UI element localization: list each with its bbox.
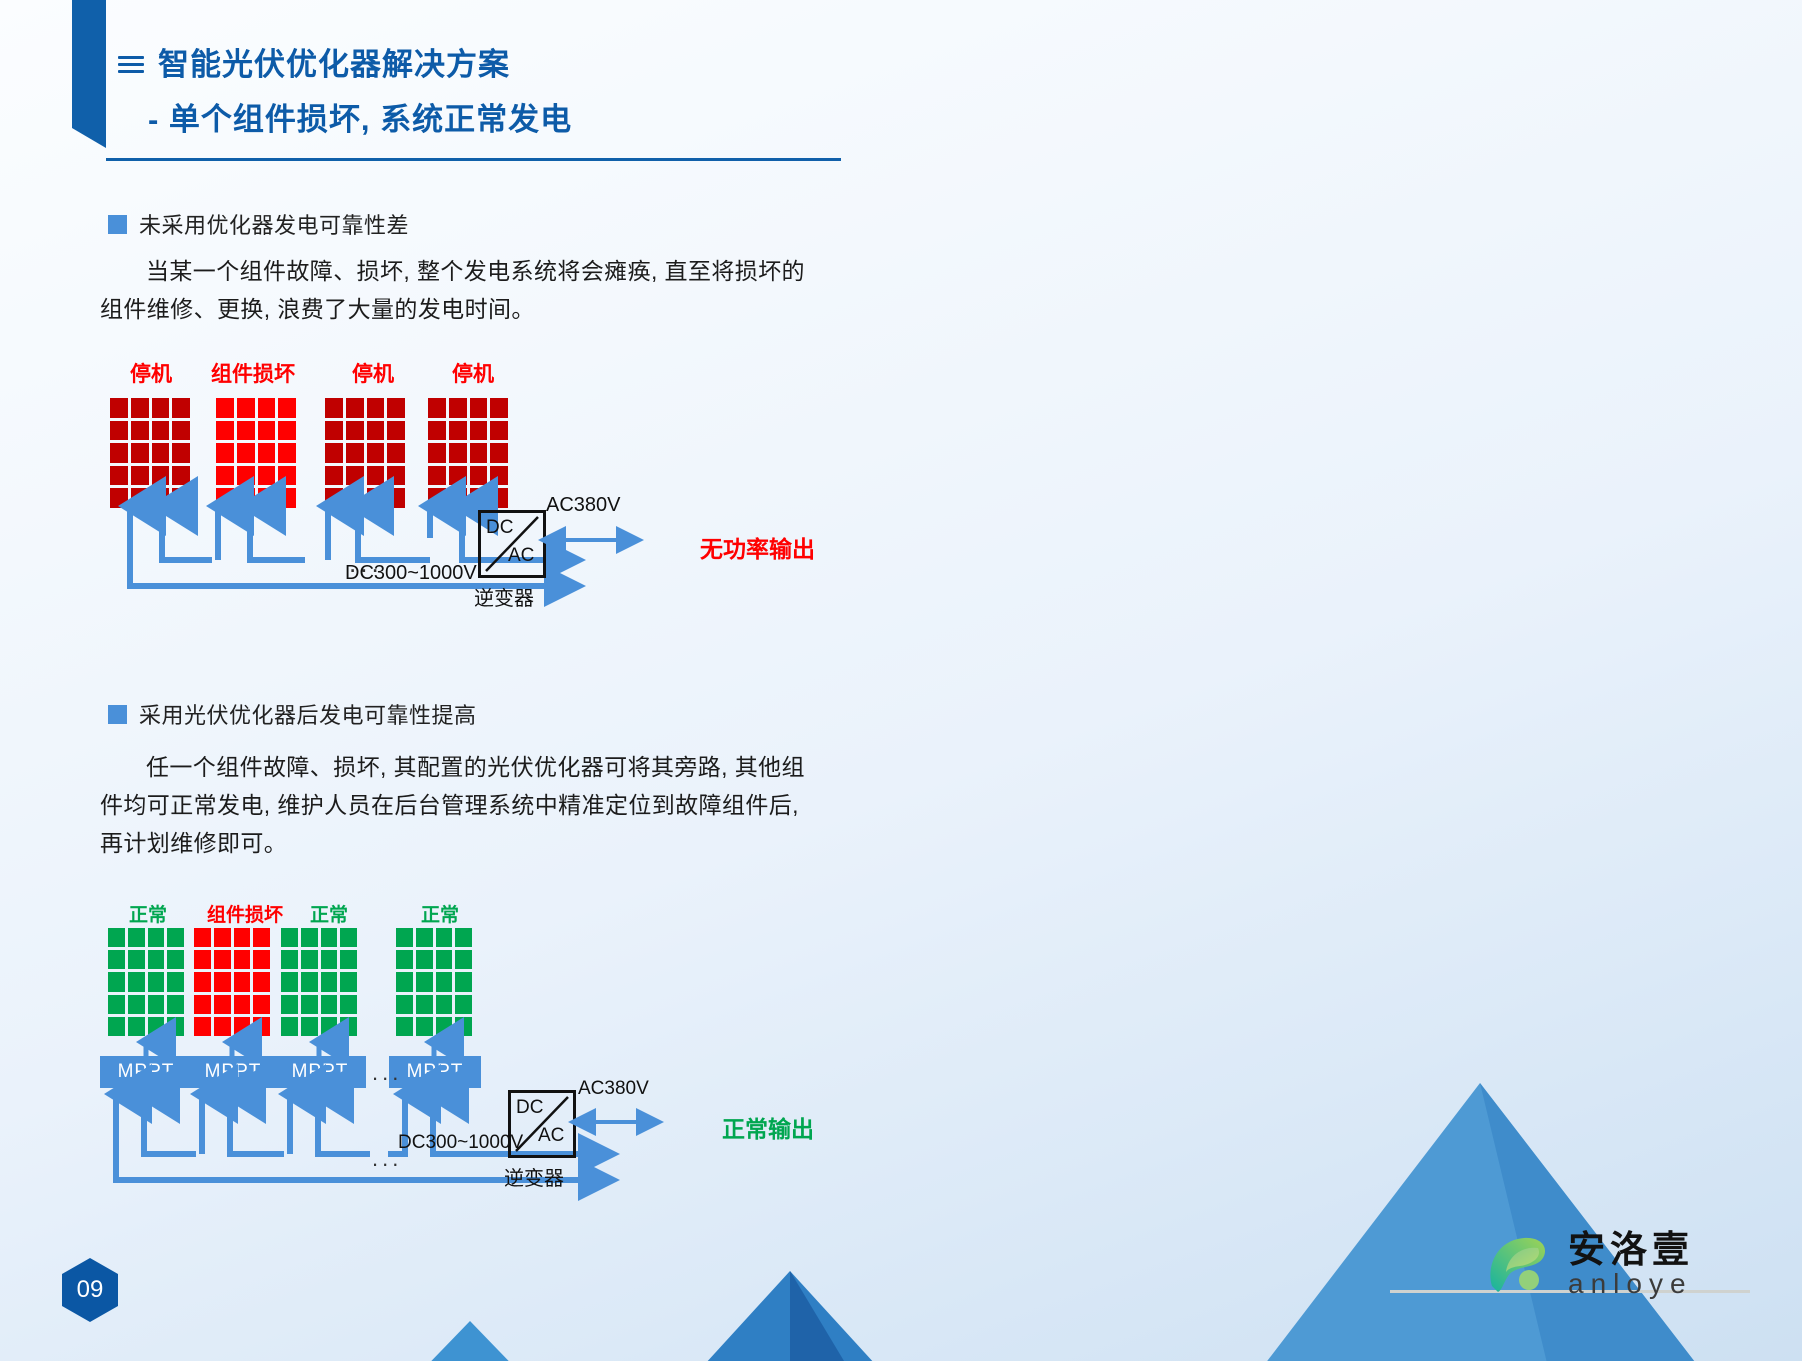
panel-cell: [258, 398, 276, 418]
panel-cell: [278, 398, 296, 418]
panel-cell: [278, 466, 296, 486]
mppt-box: MPPT: [389, 1056, 481, 1088]
panel-cell: [128, 1017, 145, 1036]
panel-cell: [490, 421, 508, 441]
panel-cell: [234, 928, 251, 947]
panel-cell: [449, 421, 467, 441]
panel-cell: [148, 928, 165, 947]
panel-cell: [416, 928, 433, 947]
section1-output-label: 无功率输出: [700, 530, 815, 564]
inverter-dc-label: DC: [486, 517, 513, 539]
panel-cell: [470, 466, 488, 486]
panel-cell: [167, 950, 184, 969]
panel-cell: [194, 928, 211, 947]
panel-cell: [131, 466, 149, 486]
panel-cell: [396, 972, 413, 991]
mppt-box: MPPT: [100, 1056, 192, 1088]
panel-cell: [436, 928, 453, 947]
panel-cell: [470, 421, 488, 441]
panel-cell: [428, 421, 446, 441]
panel-cell: [214, 995, 231, 1014]
panel-cell: [346, 443, 364, 463]
panel-cell: [216, 466, 234, 486]
panel-cell: [325, 421, 343, 441]
panel-cell: [340, 1017, 357, 1036]
panel-cell: [172, 421, 190, 441]
panel-cell: [214, 1017, 231, 1036]
panel-cell: [216, 398, 234, 418]
panel-cell: [387, 398, 405, 418]
panel-cell: [490, 398, 508, 418]
panel-cell: [234, 1017, 251, 1036]
section1-heading: 未采用优化器发电可靠性差: [108, 208, 409, 240]
panel-cell: [281, 950, 298, 969]
header-divider: [106, 158, 841, 161]
panel-cell: [194, 950, 211, 969]
solar-panel: [110, 398, 190, 508]
panel-cell: [152, 421, 170, 441]
panel-cell: [131, 443, 149, 463]
panel-cell: [367, 466, 385, 486]
panel-cell: [396, 995, 413, 1014]
panel-cell: [416, 972, 433, 991]
panel-cell: [216, 421, 234, 441]
solar-panel: [281, 928, 357, 1036]
panel-cell: [216, 443, 234, 463]
inverter-caption: 逆变器: [474, 582, 534, 611]
panel-cell: [449, 443, 467, 463]
section2-heading: 采用光伏优化器后发电可靠性提高: [108, 698, 477, 730]
inverter-dc-label: DC: [516, 1097, 543, 1119]
panel-cell: [470, 398, 488, 418]
solar-panel: [428, 398, 508, 508]
panel-cell: [172, 398, 190, 418]
panel-cell: [214, 972, 231, 991]
page-header: 智能光伏优化器解决方案 - 单个组件损坏, 系统正常发电: [118, 48, 1018, 139]
header-accent-bar: [72, 0, 106, 148]
panel-cell: [258, 466, 276, 486]
solar-panel: [396, 928, 472, 1036]
panel-cell: [301, 928, 318, 947]
page-subtitle: - 单个组件损坏, 系统正常发电: [118, 94, 1018, 139]
panel-cell: [340, 972, 357, 991]
panel-cell: [128, 928, 145, 947]
panel-label-4: 停机: [420, 358, 526, 388]
section2-ac-arrow: [570, 1110, 690, 1134]
panel-cell: [301, 950, 318, 969]
section2-heading-label: 采用光伏优化器后发电可靠性提高: [139, 698, 477, 730]
panel-cell: [108, 995, 125, 1014]
panel-cell: [258, 421, 276, 441]
section1-ac-label: AC380V: [546, 494, 621, 517]
panel-cell: [428, 398, 446, 418]
panel-label-3: 停机: [320, 358, 426, 388]
panel-cell: [325, 466, 343, 486]
panel-cell: [131, 398, 149, 418]
panel-cell: [281, 1017, 298, 1036]
panel-cell: [301, 995, 318, 1014]
logo-chinese-name: 安洛壹: [1568, 1231, 1694, 1268]
inverter-ac-label: AC: [538, 1125, 564, 1147]
panel-cell: [253, 928, 270, 947]
panel-cell: [321, 972, 338, 991]
panel-cell: [346, 421, 364, 441]
panel-cell: [449, 398, 467, 418]
panel-label-1: 停机: [98, 358, 204, 388]
panel-cell: [237, 466, 255, 486]
panel-cell: [108, 972, 125, 991]
panel-cell: [253, 972, 270, 991]
panel-cell: [131, 421, 149, 441]
panel-cell: [152, 398, 170, 418]
panel-cell: [167, 972, 184, 991]
panel-cell: [214, 928, 231, 947]
section1-heading-label: 未采用优化器发电可靠性差: [139, 208, 409, 240]
panel-cell: [237, 443, 255, 463]
panel-cell: [325, 398, 343, 418]
panel-cell: [148, 950, 165, 969]
panel-cell: [194, 995, 211, 1014]
panel-cell: [387, 466, 405, 486]
page-title: 智能光伏优化器解决方案: [158, 48, 510, 82]
panel-cell: [321, 950, 338, 969]
section2-paragraph: 任一个组件故障、损坏, 其配置的光伏优化器可将其旁路, 其他组件均可正常发电, …: [100, 748, 820, 862]
panel-label-4: 正常: [394, 900, 486, 927]
panel-cell: [387, 443, 405, 463]
panel-label-3: 正常: [283, 900, 375, 927]
panel-cell: [108, 1017, 125, 1036]
panel-cell: [128, 950, 145, 969]
leaf-logo-icon: [1482, 1228, 1554, 1300]
section2-output-label: 正常输出: [722, 1110, 814, 1144]
panel-cell: [321, 995, 338, 1014]
panel-cell: [281, 972, 298, 991]
solar-panel: [108, 928, 184, 1036]
panel-cell: [167, 995, 184, 1014]
panel-cell: [436, 995, 453, 1014]
panel-cell: [128, 972, 145, 991]
panel-cell: [325, 443, 343, 463]
panel-cell: [281, 928, 298, 947]
section1-paragraph: 当某一个组件故障、损坏, 整个发电系统将会瘫痪, 直至将损坏的组件维修、更换, …: [100, 252, 820, 328]
panel-cell: [301, 1017, 318, 1036]
section2-dc-label: DC300~1000V: [398, 1132, 523, 1154]
panel-label-1: 正常: [102, 900, 194, 927]
panel-cell: [367, 421, 385, 441]
panel-cell: [367, 443, 385, 463]
logo-english-name: anloye: [1568, 1270, 1694, 1298]
panel-cell: [455, 972, 472, 991]
panel-cell: [237, 398, 255, 418]
panel-cell: [470, 443, 488, 463]
panel-cell: [110, 443, 128, 463]
section2-ac-label: AC380V: [578, 1078, 649, 1100]
panel-cell: [258, 443, 276, 463]
panel-cell: [152, 466, 170, 486]
panel-cell: [281, 995, 298, 1014]
panel-cell: [387, 421, 405, 441]
inverter-caption: 逆变器: [504, 1162, 564, 1191]
panel-cell: [346, 466, 364, 486]
panel-cell: [340, 928, 357, 947]
panel-cell: [152, 443, 170, 463]
bullet-square-icon: [108, 705, 127, 724]
panel-cell: [416, 995, 433, 1014]
hamburger-icon: [118, 54, 144, 76]
panel-cell: [194, 972, 211, 991]
solar-panel: [325, 398, 405, 508]
panel-cell: [436, 950, 453, 969]
inverter-ac-label: AC: [508, 545, 534, 567]
panel-cell: [455, 950, 472, 969]
panel-cell: [110, 398, 128, 418]
panel-cell: [490, 443, 508, 463]
slide-page: 智能光伏优化器解决方案 - 单个组件损坏, 系统正常发电 未采用优化器发电可靠性…: [0, 0, 1802, 1361]
panel-cell: [214, 950, 231, 969]
panel-cell: [278, 443, 296, 463]
panel-cell: [346, 398, 364, 418]
panel-cell: [167, 1017, 184, 1036]
panel-cell: [108, 928, 125, 947]
panel-cell: [396, 928, 413, 947]
solar-panel-damaged: [216, 398, 296, 508]
panel-cell: [321, 928, 338, 947]
panel-cell: [321, 1017, 338, 1036]
panel-cell: [148, 972, 165, 991]
panel-cell: [234, 995, 251, 1014]
panel-cell: [436, 1017, 453, 1036]
panel-cell: [194, 1017, 211, 1036]
panel-cell: [237, 421, 255, 441]
panel-cell: [253, 995, 270, 1014]
panel-cell: [172, 443, 190, 463]
panel-cell: [148, 995, 165, 1014]
solar-panel-damaged: [194, 928, 270, 1036]
panel-cell: [148, 1017, 165, 1036]
panel-cell: [128, 995, 145, 1014]
panel-cell: [253, 950, 270, 969]
panel-cell: [490, 466, 508, 486]
panel-cell: [110, 421, 128, 441]
panel-cell: [340, 995, 357, 1014]
panel-cell: [416, 950, 433, 969]
panel-cell: [367, 398, 385, 418]
panel-cell: [278, 421, 296, 441]
panel-label-2: 组件损坏: [195, 358, 311, 388]
panel-cell: [396, 1017, 413, 1036]
panel-cell: [108, 950, 125, 969]
panel-cell: [172, 466, 190, 486]
section1-dc-label: DC300~1000V: [345, 562, 477, 585]
panel-cell: [234, 950, 251, 969]
company-logo: 安洛壹 anloye: [1482, 1228, 1694, 1300]
panel-cell: [428, 466, 446, 486]
panel-cell: [340, 950, 357, 969]
panel-cell: [110, 466, 128, 486]
panel-cell: [428, 443, 446, 463]
section1-ac-arrow: [540, 528, 660, 552]
panel-cell: [455, 995, 472, 1014]
panel-cell: [436, 972, 453, 991]
bullet-square-icon: [108, 215, 127, 234]
panel-cell: [396, 950, 413, 969]
mppt-box: MPPT: [187, 1056, 279, 1088]
mppt-ellipsis: ...: [372, 1060, 402, 1086]
panel-cell: [455, 928, 472, 947]
panel-cell: [234, 972, 251, 991]
panel-cell: [416, 1017, 433, 1036]
panel-cell: [449, 466, 467, 486]
panel-cell: [301, 972, 318, 991]
panel-cell: [167, 928, 184, 947]
panel-cell: [455, 1017, 472, 1036]
mppt-box: MPPT: [274, 1056, 366, 1088]
panel-cell: [253, 1017, 270, 1036]
